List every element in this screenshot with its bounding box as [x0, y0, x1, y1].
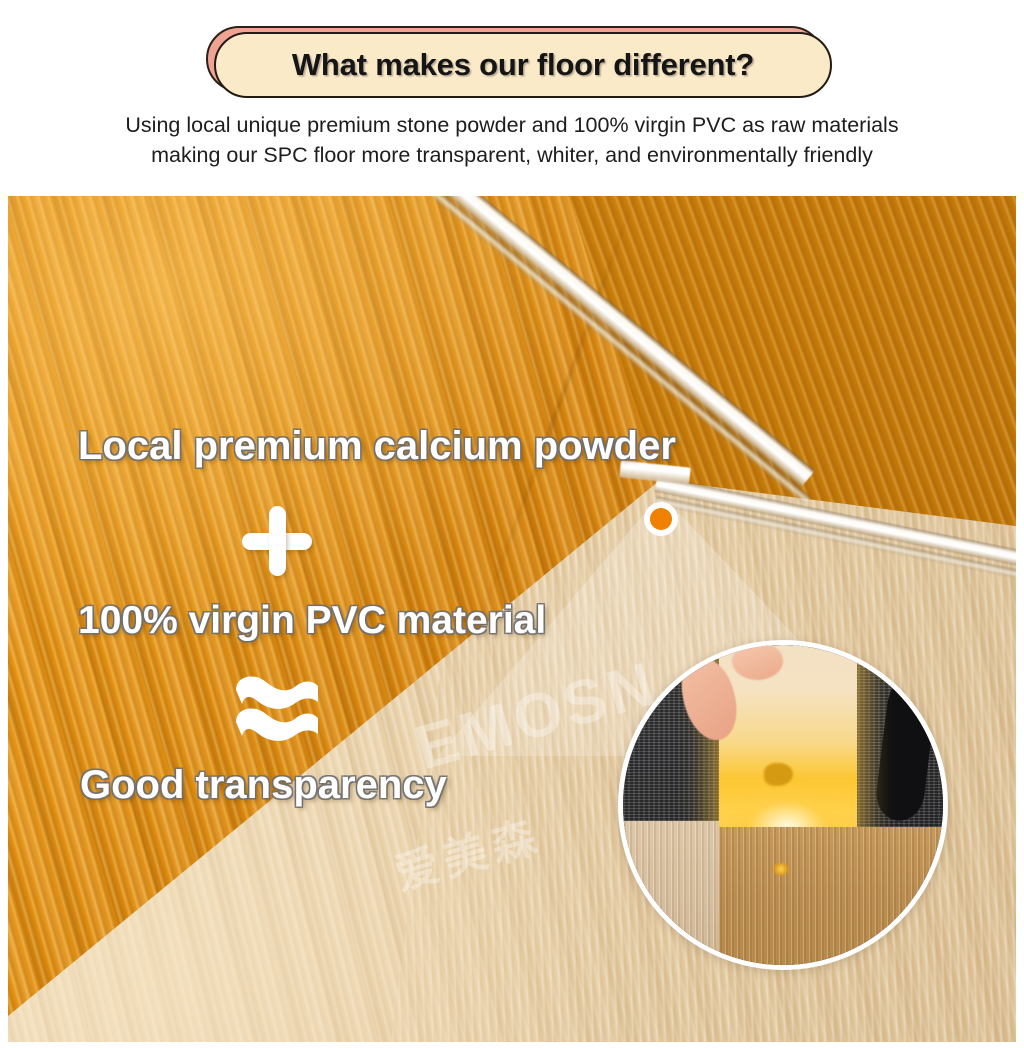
plus-icon-bar-vertical — [269, 506, 286, 576]
overlay-line-2: 100% virgin PVC material — [78, 599, 546, 643]
plus-icon — [242, 506, 312, 576]
overlay-line-3: Good transparency — [80, 763, 447, 808]
subtitle-block: Using local unique premium stone powder … — [0, 110, 1024, 170]
callout-dot-center — [650, 508, 672, 530]
magnifier-circle[interactable] — [618, 640, 948, 970]
product-photo: EMOSN 爱美森 Local premium calcium powder 1… — [8, 196, 1016, 1042]
foreground-plank-left — [618, 821, 719, 970]
magnifier-content — [623, 645, 943, 965]
header-section: What makes our floor different? Using lo… — [0, 0, 1024, 196]
overlay-line-1: Local premium calcium powder — [78, 424, 676, 469]
callout-dot-icon[interactable] — [644, 502, 678, 536]
subtitle-line-2: making our SPC floor more transparent, w… — [0, 140, 1024, 170]
page-title: What makes our floor different? — [292, 47, 754, 83]
subtitle-line-1: Using local unique premium stone powder … — [0, 110, 1024, 140]
bottom-margin — [0, 1042, 1024, 1048]
hand-fingertip — [732, 642, 783, 680]
backlight-hotspot — [764, 763, 793, 785]
title-banner-card: What makes our floor different? — [214, 32, 832, 98]
title-banner: What makes our floor different? — [206, 26, 834, 98]
approximately-equal-icon — [230, 666, 326, 748]
